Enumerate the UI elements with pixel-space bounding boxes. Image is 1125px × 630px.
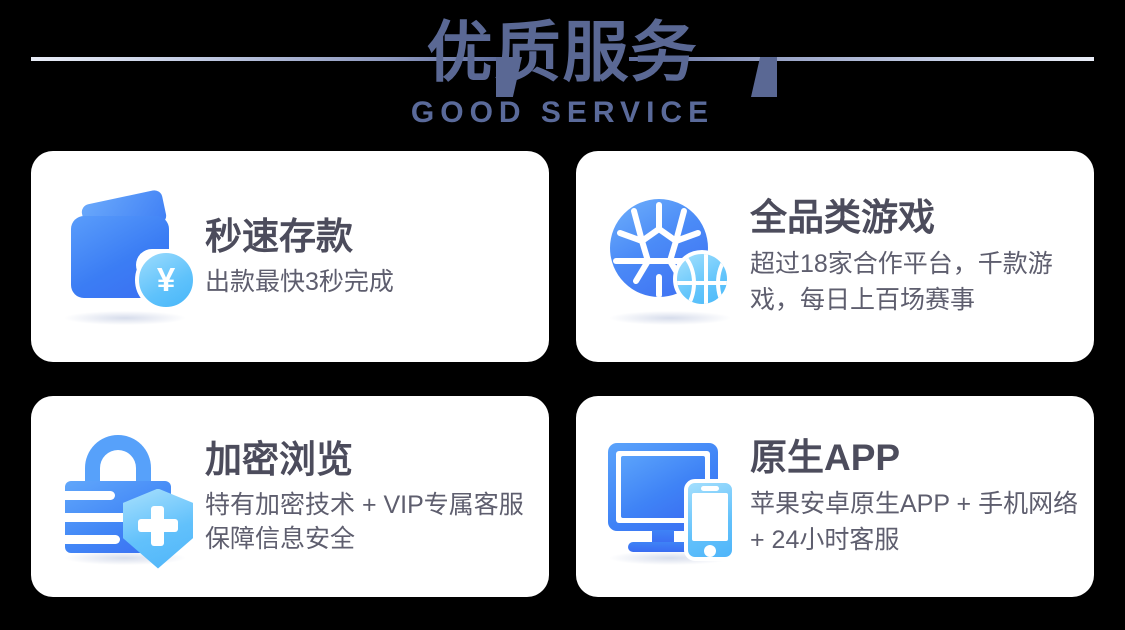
lock-slot-icon bbox=[65, 513, 129, 522]
promo-banner: 优质服务 GOOD SERVICE ¥ 秒速存款 出款最快3秒完成 bbox=[0, 0, 1125, 630]
plus-icon bbox=[151, 506, 164, 546]
phone-screen-icon bbox=[692, 493, 728, 541]
card-subtitle: 超过18家合作平台，千款游戏，每日上百场赛事 bbox=[750, 246, 1088, 318]
lock-slot-icon bbox=[65, 535, 120, 544]
card-text-block: 全品类游戏 超过18家合作平台，千款游戏，每日上百场赛事 bbox=[750, 196, 1088, 318]
card-title: 原生APP bbox=[750, 436, 1088, 480]
lock-shield-icon bbox=[57, 427, 197, 567]
icon-shadow bbox=[610, 311, 730, 325]
wallet-coin-icon: ¥ bbox=[57, 187, 197, 327]
banner-header: 优质服务 GOOD SERVICE bbox=[0, 0, 1125, 150]
card-title: 全品类游戏 bbox=[750, 196, 1088, 240]
feature-card-all-games[interactable]: 全品类游戏 超过18家合作平台，千款游戏，每日上百场赛事 bbox=[576, 151, 1094, 362]
page-subtitle: GOOD SERVICE bbox=[0, 96, 1125, 130]
yen-symbol-icon: ¥ bbox=[135, 249, 197, 311]
card-subtitle: 出款最快3秒完成 bbox=[205, 265, 543, 299]
feature-card-encrypted-browsing[interactable]: 加密浏览 特有加密技术 + VIP专属客服保障信息安全 bbox=[31, 396, 549, 597]
monitor-phone-icon bbox=[602, 427, 742, 567]
card-text-block: 加密浏览 特有加密技术 + VIP专属客服保障信息安全 bbox=[205, 438, 543, 556]
phone-home-button-icon bbox=[704, 545, 716, 557]
card-title: 加密浏览 bbox=[205, 438, 543, 482]
card-title: 秒速存款 bbox=[205, 215, 543, 259]
lock-slot-icon bbox=[65, 491, 115, 500]
card-text-block: 秒速存款 出款最快3秒完成 bbox=[205, 215, 543, 299]
phone-speaker-icon bbox=[701, 486, 719, 491]
feature-card-grid: ¥ 秒速存款 出款最快3秒完成 bbox=[31, 151, 1094, 597]
feature-card-fast-deposit[interactable]: ¥ 秒速存款 出款最快3秒完成 bbox=[31, 151, 549, 362]
card-subtitle: 苹果安卓原生APP + 手机网络 + 24小时客服 bbox=[750, 486, 1088, 558]
icon-shadow bbox=[65, 311, 185, 325]
soccer-basketball-icon bbox=[602, 187, 742, 327]
card-subtitle: 特有加密技术 + VIP专属客服保障信息安全 bbox=[205, 488, 543, 556]
feature-card-native-app[interactable]: 原生APP 苹果安卓原生APP + 手机网络 + 24小时客服 bbox=[576, 396, 1094, 597]
card-text-block: 原生APP 苹果安卓原生APP + 手机网络 + 24小时客服 bbox=[750, 436, 1088, 558]
basketball-icon bbox=[673, 250, 731, 308]
page-title: 优质服务 bbox=[0, 10, 1125, 94]
